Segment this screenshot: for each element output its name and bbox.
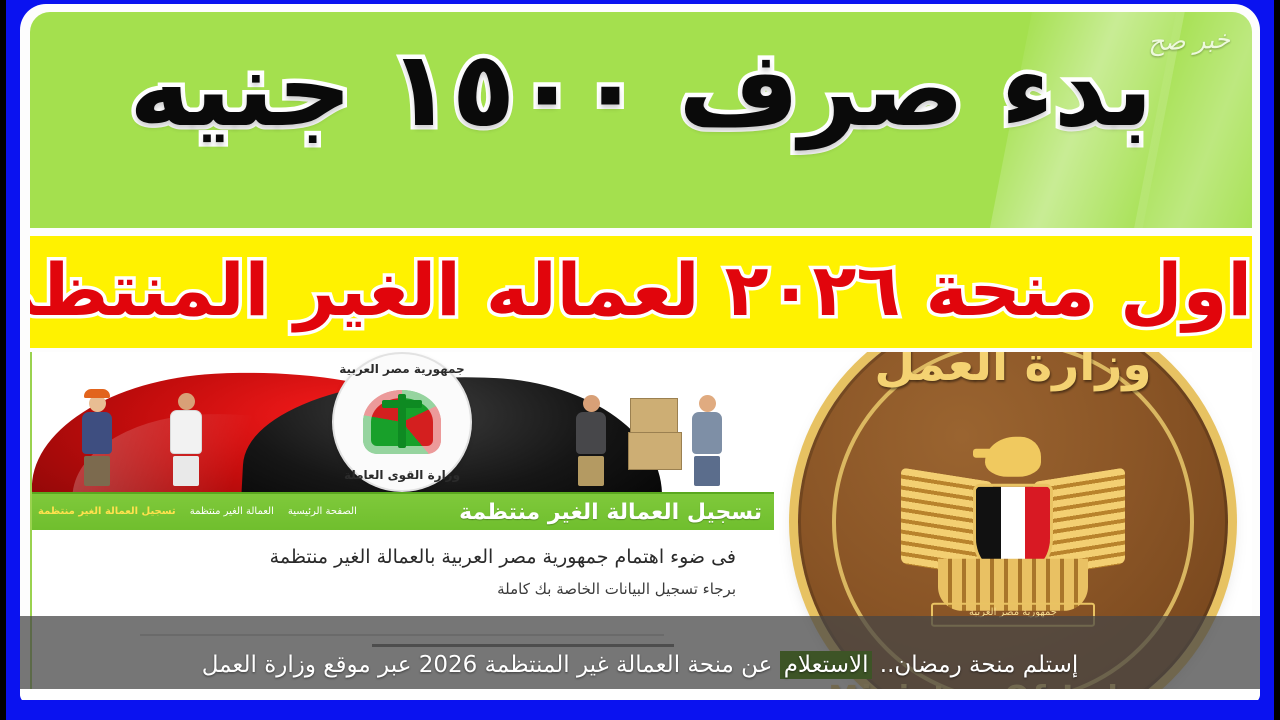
- bottom-blue-band: [6, 700, 1274, 720]
- thumbnail-canvas: بدء صرف ١٥٠٠ جنيه خبر صح اول منحة ٢٠٢٦ ل…: [0, 0, 1280, 720]
- worker-figure-technician: [576, 395, 606, 486]
- eagle-of-saladin-icon: جمهورية مصر العربية: [893, 431, 1133, 621]
- logo-top-arc-text: جمهورية مصر العربية: [334, 362, 470, 376]
- cardboard-box-bottom: [628, 432, 682, 470]
- nav-item-home[interactable]: الصفحة الرئيسية: [288, 506, 357, 517]
- channel-watermark: خبر صح: [1147, 25, 1230, 57]
- headline-banner: بدء صرف ١٥٠٠ جنيه خبر صح: [30, 12, 1252, 228]
- website-body-line1: فى ضوء اهتمام جمهورية مصر العربية بالعما…: [270, 546, 736, 568]
- caption-divider: [372, 644, 674, 647]
- worker-figure-delivery: [692, 395, 722, 486]
- nav-item-informal-labour[interactable]: العمالة الغير منتظمة: [190, 506, 274, 517]
- worker-figure-construction: [82, 389, 112, 486]
- worker-figure-medical: [170, 393, 202, 486]
- caption-part1: إستلم منحة رمضان..: [880, 652, 1078, 678]
- gear-icon: [363, 390, 441, 454]
- website-body-line2: برجاء تسجيل البيانات الخاصة بك كاملة: [497, 580, 736, 598]
- website-navbar: تسجيل العمالة الغير منتظمة الصفحة الرئيس…: [30, 492, 774, 532]
- manpower-ministry-logo: جمهورية مصر العربية وزارة القوى العاملة: [334, 354, 470, 490]
- eagle-head: [985, 437, 1041, 477]
- nav-item-register-informal-labour[interactable]: تسجيل العمالة الغير منتظمة: [38, 506, 176, 517]
- subheadline-text: اول منحة ٢٠٢٦ لعماله الغير المنتظمة: [30, 242, 1252, 339]
- headline-text: بدء صرف ١٥٠٠ جنيه: [30, 26, 1252, 153]
- caption-text: إستلم منحة رمضان.. الاستعلام عن منحة الع…: [20, 652, 1260, 678]
- caption-highlight: الاستعلام: [780, 651, 873, 679]
- seal-arabic-name: وزارة العمل: [798, 352, 1228, 392]
- logo-bottom-arc-text: وزارة القوى العاملة: [334, 468, 470, 482]
- website-hero-banner: جمهورية مصر العربية وزارة القوى العاملة: [30, 352, 774, 492]
- subheadline-banner: اول منحة ٢٠٢٦ لعماله الغير المنتظمة: [30, 236, 1252, 348]
- navbar-title: تسجيل العمالة الغير منتظمة: [459, 500, 762, 525]
- caption-bar: إستلم منحة رمضان.. الاستعلام عن منحة الع…: [20, 616, 1260, 689]
- navbar-menu: الصفحة الرئيسية العمالة الغير منتظمة تسج…: [38, 506, 357, 517]
- cardboard-box-top: [630, 398, 678, 434]
- caption-part2: عن منحة العمالة غير المنتظمة 2026 عبر مو…: [202, 652, 773, 678]
